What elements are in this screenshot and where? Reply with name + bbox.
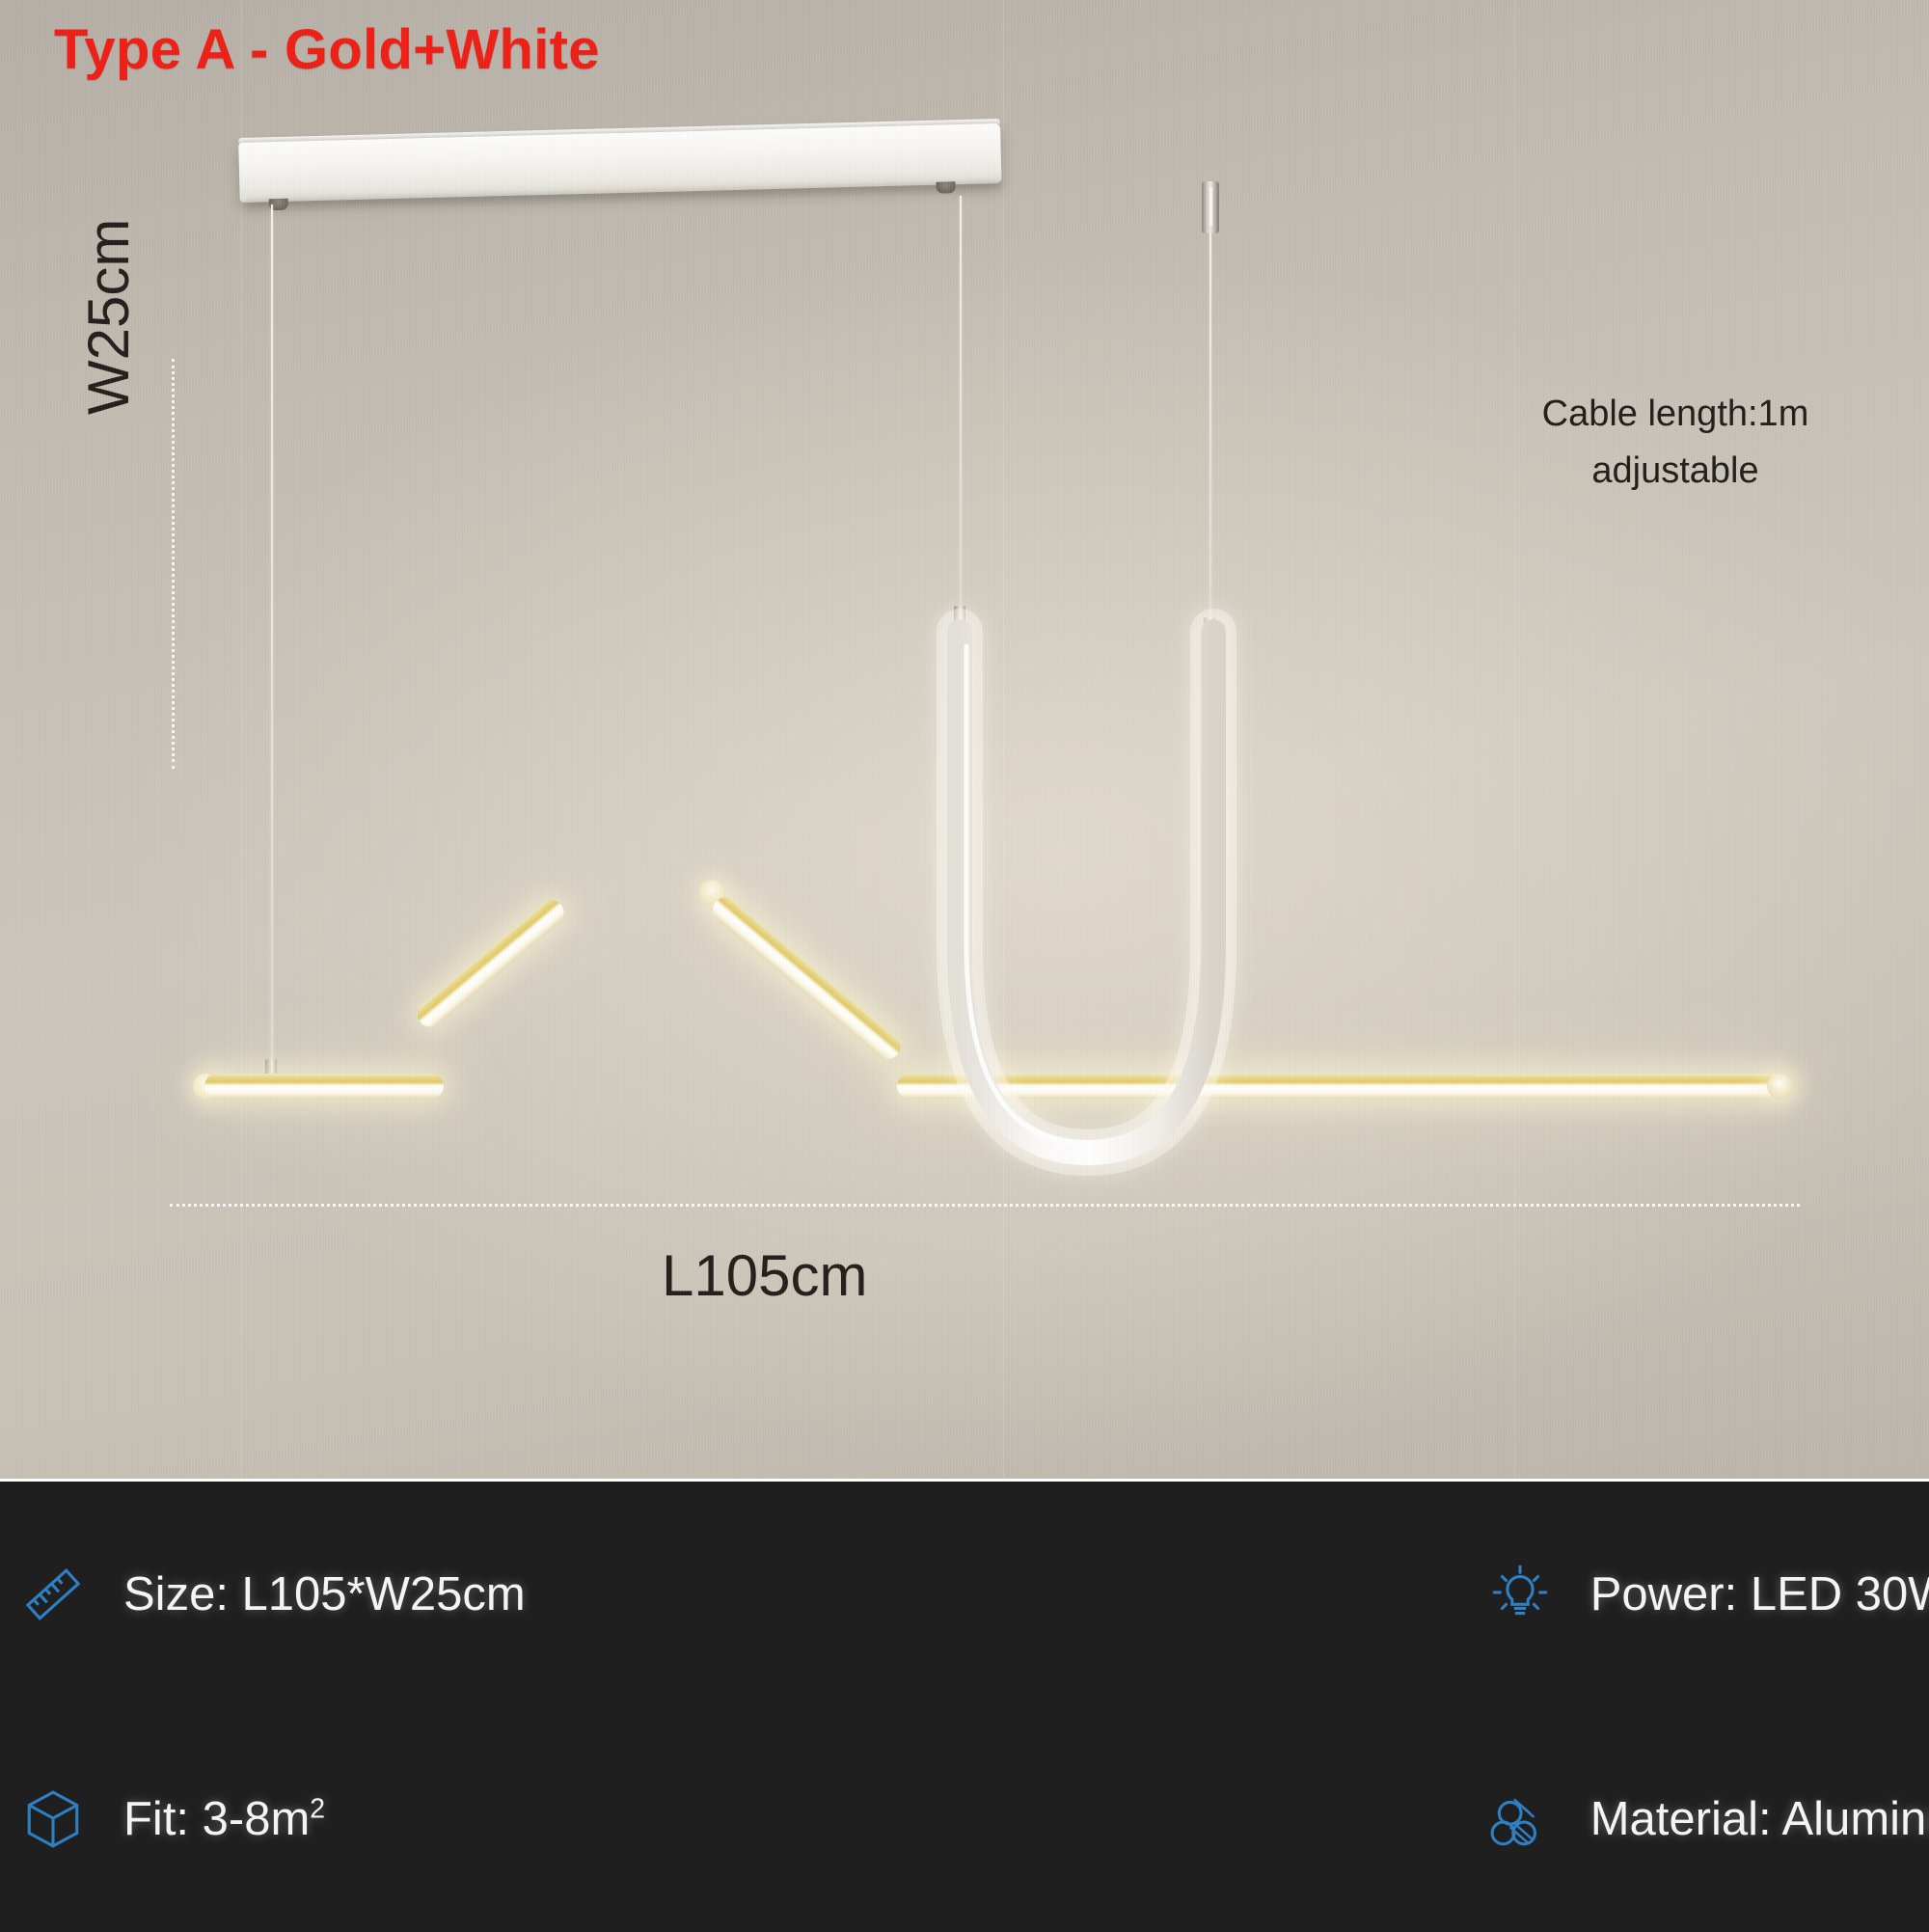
product-image: Type A - Gold+White [0,0,1929,1929]
product-photo: Type A - Gold+White [0,0,1929,1479]
width-dimension-label: W25cm [75,219,142,415]
length-guide-line [170,1204,1800,1207]
spec-label-size: Size: L105*W25cm [123,1567,526,1621]
cable-length-note: Cable length:1m adjustable [1516,386,1834,500]
cube-icon [21,1787,85,1851]
spec-panel: Size: L105*W25cm Power: LED 30W Fit: 3 [0,1479,1929,1932]
spec-fit-sup: 2 [310,1794,325,1825]
width-guide-line [172,359,175,769]
pipes-icon [1488,1787,1552,1851]
spec-item-fit: Fit: 3-8m2 [0,1787,526,1851]
spec-fit-text: Fit: 3-8m [123,1793,310,1845]
spec-item-material: Material: Aluminum + PVC [526,1787,1929,1851]
spec-label-power: Power: LED 30W [1590,1567,1929,1621]
length-dimension-label: L105cm [662,1242,867,1309]
cable-note-line-2: adjustable [1516,443,1834,500]
ruler-icon [21,1563,85,1626]
spec-grid: Size: L105*W25cm Power: LED 30W Fit: 3 [0,1482,1929,1932]
cable-note-line-1: Cable length:1m [1516,386,1834,443]
white-u-tube [0,0,1929,1479]
spec-item-power: Power: LED 30W [526,1563,1929,1626]
spec-label-fit: Fit: 3-8m2 [123,1792,325,1846]
spec-item-size: Size: L105*W25cm [0,1563,526,1626]
bulb-icon [1488,1563,1552,1626]
spec-label-material: Material: Aluminum + PVC [1590,1792,1929,1846]
